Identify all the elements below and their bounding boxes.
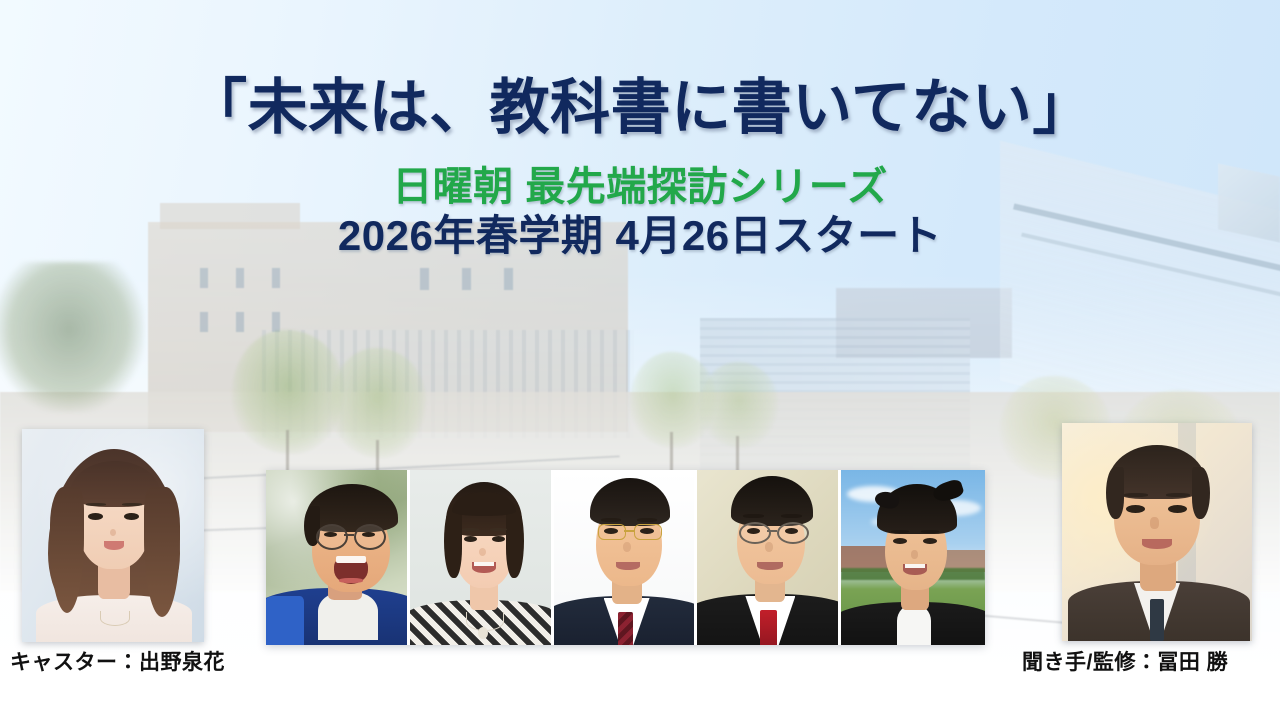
host-portrait[interactable] bbox=[1062, 423, 1252, 641]
background-pine-tree bbox=[0, 262, 144, 412]
page-title: 「未来は、教科書に書いてない」 bbox=[0, 78, 1280, 138]
guest-photo-1[interactable] bbox=[266, 470, 410, 645]
guest-photo-2[interactable] bbox=[410, 470, 554, 645]
host-caption: 聞き手/監修：冨田 勝 bbox=[1022, 646, 1228, 676]
term-subtitle: 2026年春学期 4月26日スタート bbox=[0, 214, 1280, 258]
caster-caption: キャスター：出野泉花 bbox=[10, 646, 225, 676]
series-subtitle: 日曜朝 最先端探訪シリーズ bbox=[0, 166, 1280, 208]
guest-photo-5[interactable] bbox=[841, 470, 985, 645]
title-block: 「未来は、教科書に書いてない」 日曜朝 最先端探訪シリーズ 2026年春学期 4… bbox=[0, 0, 1280, 258]
guest-photo-strip bbox=[266, 470, 985, 645]
guest-photo-4[interactable] bbox=[697, 470, 841, 645]
guest-photo-3[interactable] bbox=[554, 470, 698, 645]
banner-slide: 「未来は、教科書に書いてない」 日曜朝 最先端探訪シリーズ 2026年春学期 4… bbox=[0, 0, 1280, 720]
caster-portrait[interactable] bbox=[22, 429, 204, 642]
